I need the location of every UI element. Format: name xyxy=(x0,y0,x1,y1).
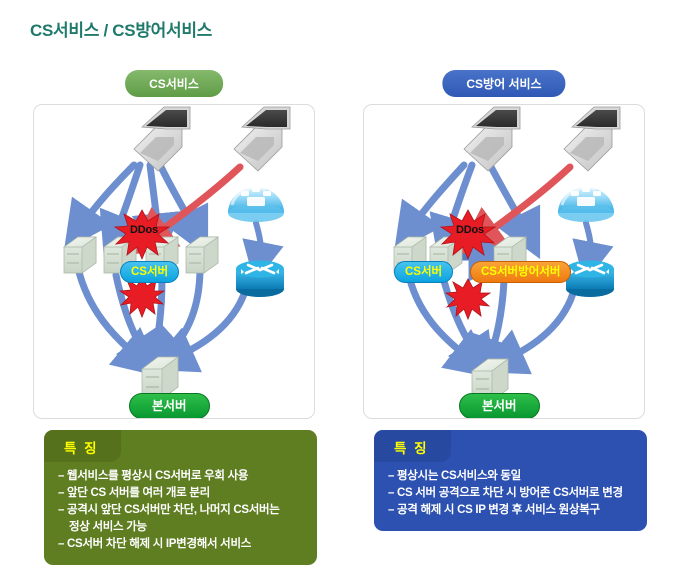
feature-list-cs-service: – 웹서비스를 평상시 CS서버로 우회 사용 – 앞단 CS 서버를 여러 개… xyxy=(44,468,317,553)
column-cs-service: CS서비스 xyxy=(14,0,334,555)
list-item: – 평상시는 CS서비스와 동일 xyxy=(388,468,635,485)
laptop-client-icon xyxy=(564,107,620,171)
cloud-to-router-arrow xyxy=(256,223,261,257)
label-cs-server-cs-service: CS서버 xyxy=(120,261,179,283)
laptop-attacker-icon xyxy=(464,107,520,171)
list-item: – 공격 해제 시 CS IP 변경 후 서비스 원상복구 xyxy=(388,502,635,519)
feature-heading-cs-defense-service: 특 징 xyxy=(374,430,451,462)
laptop-attacker-icon xyxy=(134,107,190,171)
diagram-svg-cs-service xyxy=(34,105,314,418)
diagram-panel-cs-defense-service: DDos CS서버 CS서버방어서버 본서버 xyxy=(363,104,645,419)
ddos-label-cs-service: DDos xyxy=(130,224,158,236)
list-item: – CS서버 차단 해제 시 IP변경해서 서비스 xyxy=(58,536,305,553)
list-item: – 웹서비스를 평상시 CS서버로 우회 사용 xyxy=(58,468,305,485)
router-icon xyxy=(566,261,614,298)
list-item: 정상 서비스 가능 xyxy=(58,519,305,536)
column-cs-defense-service: CS방어 서비스 xyxy=(344,0,664,555)
badge-cs-defense-service: CS방어 서비스 xyxy=(442,70,565,97)
network-cloud-icon xyxy=(558,187,614,222)
list-item: – 앞단 CS 서버를 여러 개로 분리 xyxy=(58,485,305,502)
feature-list-cs-defense-service: – 평상시는 CS서비스와 동일 – CS 서버 공격으로 차단 시 방어존 C… xyxy=(374,468,647,519)
feature-box-cs-defense-service: 특 징 – 평상시는 CS서비스와 동일 – CS 서버 공격으로 차단 시 방… xyxy=(374,430,647,531)
list-item: – 공격시 앞단 CS서버만 차단, 나머지 CS서버는 xyxy=(58,502,305,519)
label-defense-server: CS서버방어서버 xyxy=(470,261,571,283)
label-main-server-cs-service: 본서버 xyxy=(129,393,210,419)
diagram-panel-cs-service: DDos CS서버 본서버 xyxy=(33,104,315,419)
feature-box-cs-service: 특 징 – 웹서비스를 평상시 CS서버로 우회 사용 – 앞단 CS 서버를 … xyxy=(44,430,317,565)
laptop-client-icon xyxy=(234,107,290,171)
label-cs-server-defense: CS서버 xyxy=(394,261,453,283)
list-item: – CS 서버 공격으로 차단 시 방어존 CS서버로 변경 xyxy=(388,485,635,502)
ddos-label-cs-defense-service: DDos xyxy=(456,224,484,236)
feature-heading-cs-service: 특 징 xyxy=(44,430,121,462)
router-icon xyxy=(236,261,284,298)
service-arrows xyxy=(408,271,576,359)
cloud-to-router-arrow xyxy=(586,223,591,257)
badge-cs-service: CS서비스 xyxy=(125,70,223,97)
network-cloud-icon xyxy=(228,187,284,222)
label-main-server-defense: 본서버 xyxy=(459,393,540,419)
